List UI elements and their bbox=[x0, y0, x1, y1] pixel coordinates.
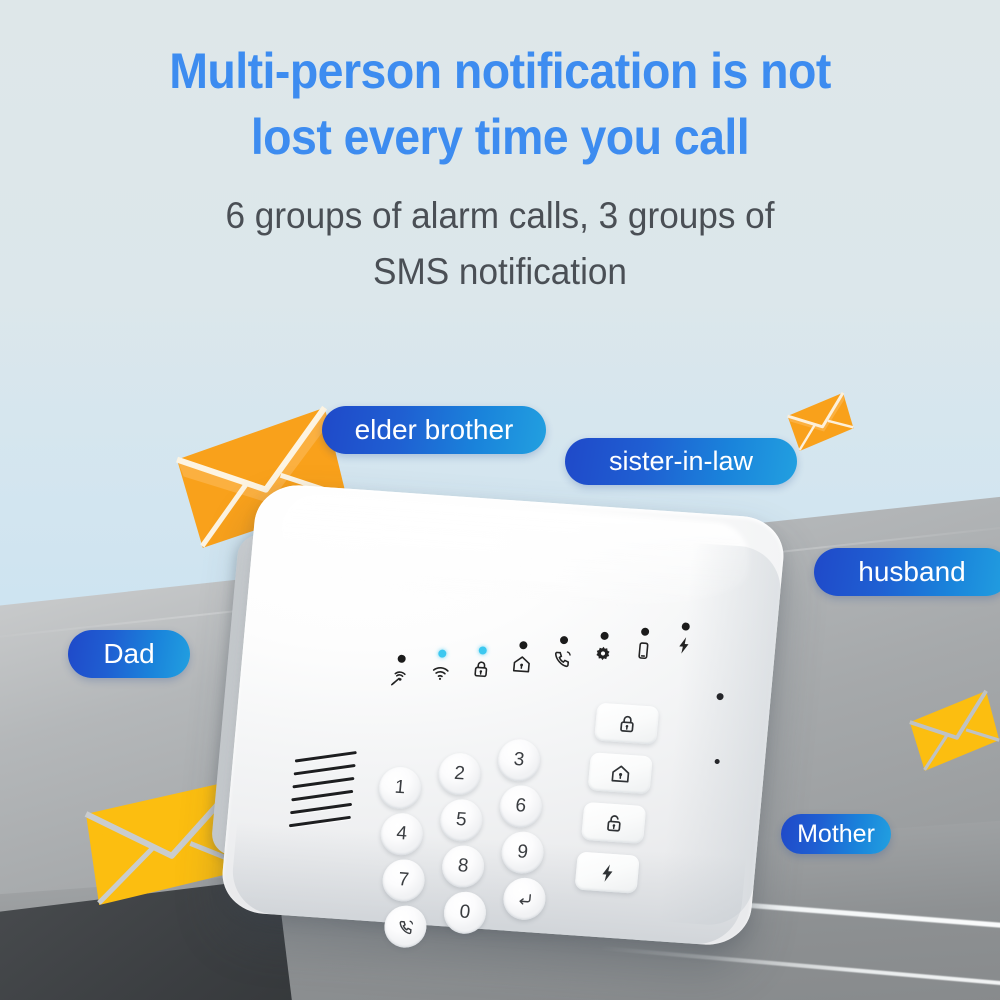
key-7[interactable]: 7 bbox=[381, 858, 427, 903]
contact-pill-label: sister-in-law bbox=[609, 446, 753, 477]
key-8[interactable]: 8 bbox=[440, 844, 486, 889]
phone-call-icon bbox=[551, 648, 573, 669]
numeric-keypad: 1 2 3 4 5 6 7 8 9 0 bbox=[377, 724, 594, 927]
wireless-alarm-panel: 1 2 3 4 5 6 7 8 9 0 bbox=[219, 482, 787, 947]
contact-pill-label: Mother bbox=[797, 820, 875, 849]
key-3[interactable]: 3 bbox=[496, 738, 542, 783]
home-armed-icon bbox=[511, 654, 533, 675]
contact-pill-label: husband bbox=[858, 556, 965, 588]
sim-card-icon bbox=[633, 640, 655, 661]
lock-open-icon bbox=[602, 812, 625, 834]
key-label: 9 bbox=[516, 841, 529, 864]
key-label: 2 bbox=[453, 763, 466, 786]
satellite-antenna-icon bbox=[389, 667, 411, 688]
function-key-column bbox=[574, 702, 675, 897]
key-label: 8 bbox=[457, 855, 470, 878]
marketing-banner: Multi-person notification is not lost ev… bbox=[0, 0, 1000, 1000]
key-9[interactable]: 9 bbox=[500, 830, 546, 875]
wifi-icon bbox=[430, 662, 452, 683]
key-6[interactable]: 6 bbox=[498, 784, 544, 829]
led-dot-off bbox=[397, 655, 406, 664]
key-label: 1 bbox=[394, 777, 407, 800]
contact-pill-sister-in-law[interactable]: sister-in-law bbox=[565, 438, 797, 485]
key-label: 3 bbox=[513, 749, 526, 772]
contact-pill-husband[interactable]: husband bbox=[814, 548, 1000, 596]
contact-pill-mother[interactable]: Mother bbox=[781, 814, 891, 854]
led-dot-off bbox=[560, 636, 569, 645]
disarm-button[interactable] bbox=[581, 802, 646, 844]
gear-icon bbox=[592, 644, 614, 665]
page-subtitle: 6 groups of alarm calls, 3 groups of SMS… bbox=[25, 188, 975, 300]
arm-away-button[interactable] bbox=[594, 703, 659, 745]
home-armed-icon bbox=[609, 762, 632, 784]
indicator-settings-gear bbox=[586, 631, 620, 679]
key-enter[interactable] bbox=[502, 877, 548, 922]
contact-pill-label: elder brother bbox=[355, 414, 514, 446]
indicator-lock-closed bbox=[464, 645, 498, 693]
enter-return-icon bbox=[515, 890, 534, 908]
contact-pill-elder-brother[interactable]: elder brother bbox=[322, 406, 546, 454]
key-label: 4 bbox=[395, 823, 408, 846]
key-4[interactable]: 4 bbox=[379, 812, 425, 857]
indicator-home-armed bbox=[505, 640, 539, 688]
led-dot-off bbox=[600, 632, 609, 641]
indicator-wifi bbox=[424, 649, 458, 697]
arm-home-button[interactable] bbox=[588, 752, 653, 794]
contact-pill-dad[interactable]: Dad bbox=[68, 630, 190, 678]
sos-button[interactable] bbox=[574, 852, 639, 894]
status-pinhole-dot bbox=[716, 693, 724, 700]
lightning-bolt-icon bbox=[596, 861, 619, 883]
indicator-phone-call bbox=[545, 635, 579, 683]
speaker-grille bbox=[288, 756, 365, 839]
contact-pill-label: Dad bbox=[103, 638, 154, 670]
lock-closed-icon bbox=[470, 659, 492, 680]
key-label: 0 bbox=[459, 901, 472, 924]
lock-closed-icon bbox=[615, 712, 638, 734]
led-dot-off bbox=[641, 627, 650, 636]
indicator-sim-card bbox=[626, 627, 660, 675]
led-dot-off bbox=[681, 622, 690, 631]
key-2[interactable]: 2 bbox=[437, 752, 483, 797]
indicator-power-bolt bbox=[667, 622, 701, 670]
led-dot-on bbox=[478, 646, 487, 655]
led-dot-on bbox=[438, 649, 447, 658]
key-label: 5 bbox=[455, 809, 468, 832]
indicator-satellite-antenna bbox=[383, 654, 417, 702]
power-bolt-icon bbox=[673, 635, 695, 656]
page-headline: Multi-person notification is not lost ev… bbox=[35, 38, 965, 170]
phone-dial-icon bbox=[396, 918, 415, 936]
key-label: 7 bbox=[397, 869, 410, 892]
key-5[interactable]: 5 bbox=[438, 798, 484, 843]
led-dot-off bbox=[519, 641, 528, 650]
key-label: 6 bbox=[515, 795, 528, 818]
